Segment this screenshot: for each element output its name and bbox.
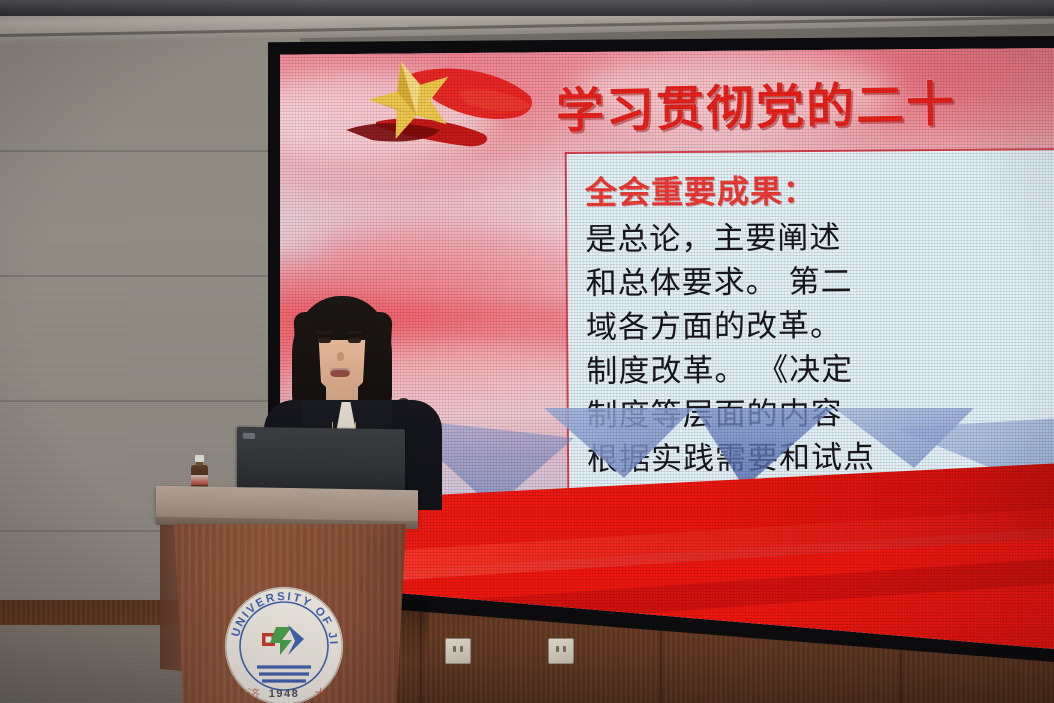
wall-outlet	[445, 638, 471, 664]
laptop-brand-logo	[243, 433, 255, 439]
content-heading: 全会重要成果：	[585, 164, 1054, 214]
ceiling-strip	[0, 0, 1054, 16]
conference-photo-scene: 学习贯彻党的二十 全会重要成果： 是总论，主要阐述 和总体要求。 第二 域各方面…	[0, 0, 1054, 703]
nose	[337, 352, 344, 361]
content-line: 和总体要求。 第二	[586, 258, 1054, 306]
svg-text:济: 济	[247, 687, 260, 702]
gold-star-ribbon-icon	[316, 56, 546, 171]
eye-right	[348, 338, 361, 343]
content-line: 是总论，主要阐述	[585, 214, 1054, 262]
wall-outlet	[548, 638, 574, 664]
laptop	[237, 427, 405, 492]
content-line: 域各方面的改革。	[586, 302, 1054, 350]
eye-left	[318, 338, 331, 343]
slide-title: 学习贯彻党的二十	[555, 65, 956, 142]
eyebrow-left	[317, 331, 332, 334]
svg-text:大: 大	[314, 687, 327, 702]
content-line: 制度改革。 《决定	[586, 346, 1054, 394]
emblem-year: 1948	[269, 688, 299, 700]
eyebrow-right	[347, 331, 362, 335]
mouth	[330, 368, 350, 377]
university-emblem: UNIVERSITY OF JINAN 1948 济 大	[221, 583, 347, 703]
wall-seam	[420, 600, 422, 703]
